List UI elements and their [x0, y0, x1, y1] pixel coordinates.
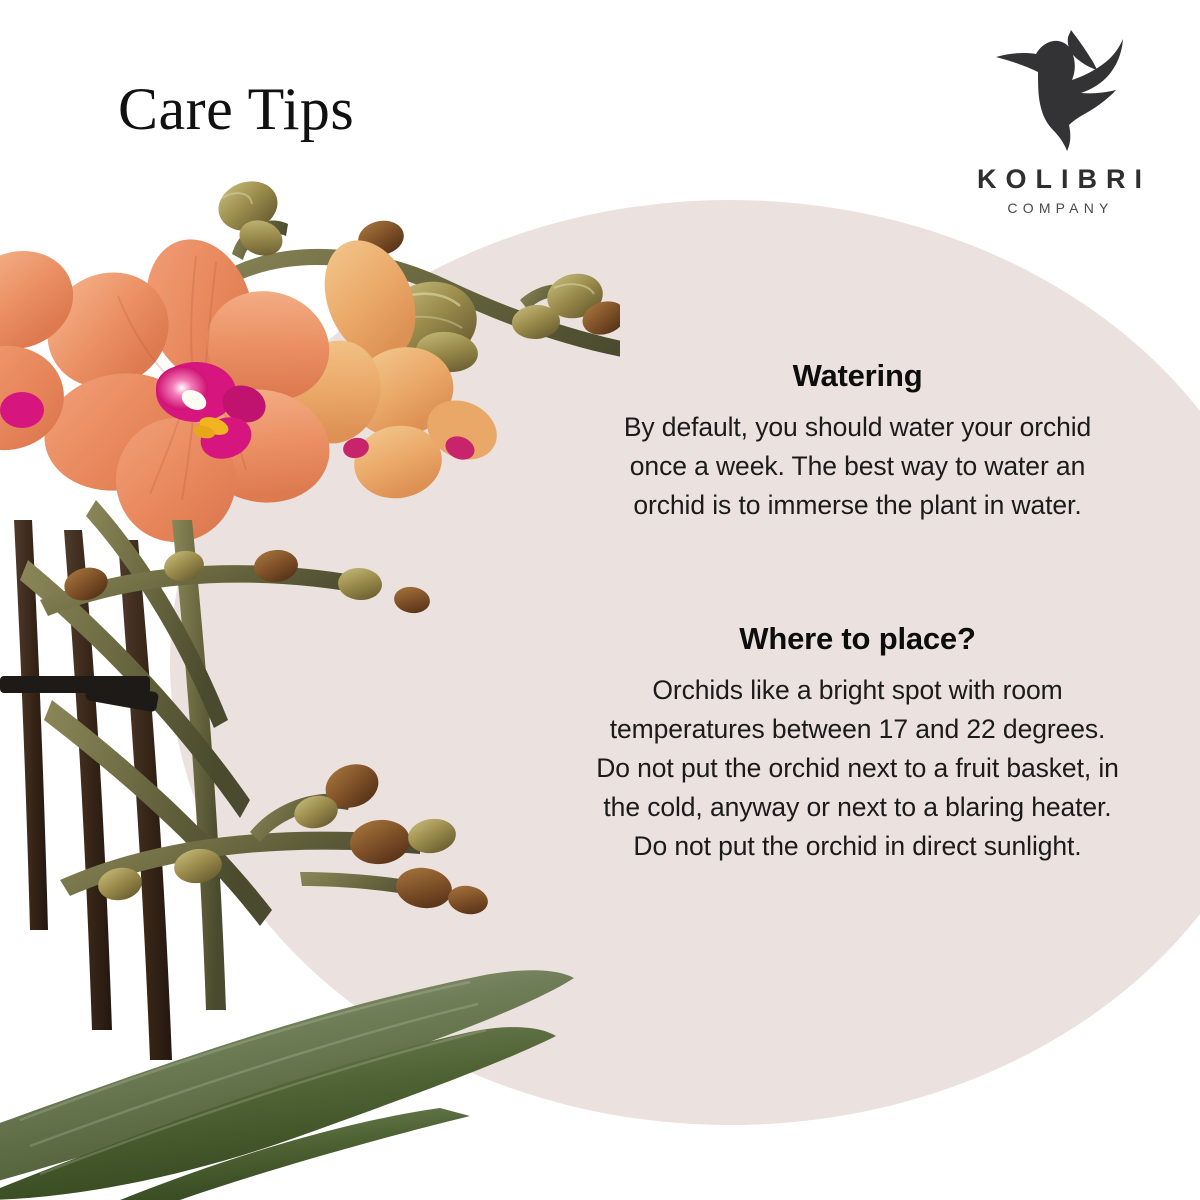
section-heading: Where to place?: [595, 621, 1120, 657]
care-tips-card: Care Tips KOLIBRI COMPANY Watering By de…: [0, 0, 1200, 1200]
hummingbird-icon: [988, 24, 1128, 154]
section-body: Orchids like a bright spot with room tem…: [595, 671, 1120, 866]
page-title: Care Tips: [118, 78, 354, 141]
logo-wordmark: KOLIBRI: [968, 164, 1148, 195]
section-heading: Watering: [595, 358, 1120, 394]
care-tips-content: Watering By default, you should water yo…: [595, 358, 1120, 866]
care-section-placement: Where to place? Orchids like a bright sp…: [595, 621, 1120, 866]
logo-tagline: COMPANY: [968, 200, 1148, 216]
section-body: By default, you should water your orchid…: [595, 408, 1120, 525]
care-section-watering: Watering By default, you should water yo…: [595, 358, 1120, 525]
brand-logo[interactable]: KOLIBRI COMPANY: [968, 24, 1148, 216]
